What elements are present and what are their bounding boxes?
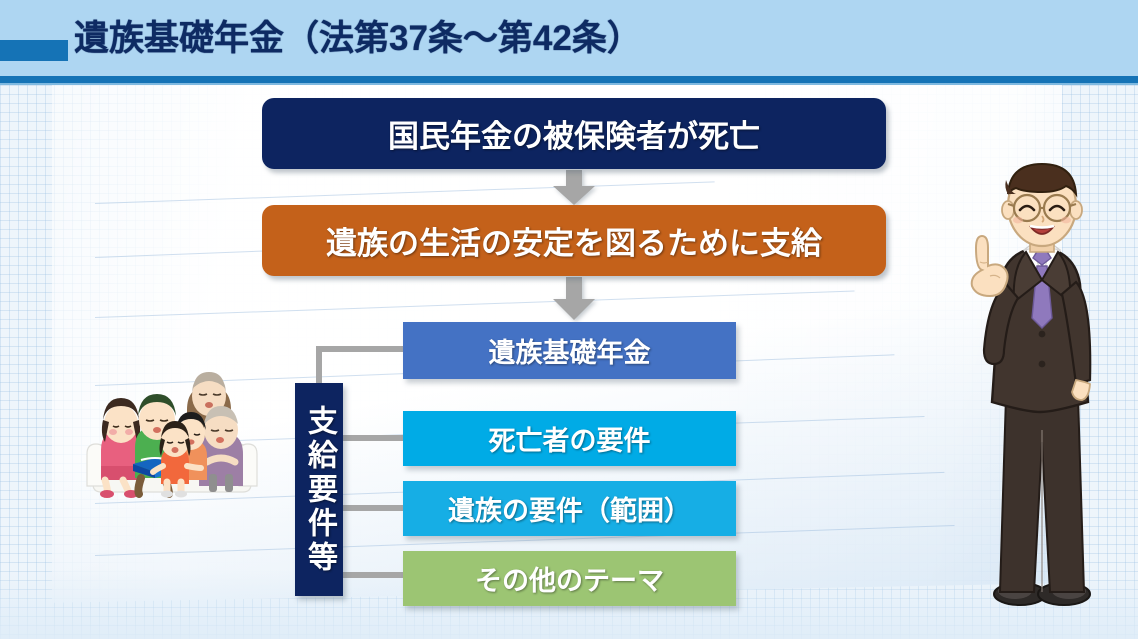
page-title: 遺族基礎年金（法第37条〜第42条） — [74, 16, 642, 62]
group-label-text: 支給要件等 — [304, 405, 334, 575]
topic-label: 遺族の要件（範囲） — [448, 489, 691, 528]
flow-step-death-label: 国民年金の被保険者が死亡 — [388, 111, 760, 156]
flow-step-death[interactable]: 国民年金の被保険者が死亡 — [262, 98, 886, 169]
topic-box-other-themes[interactable]: その他のテーマ — [403, 551, 736, 606]
topic-label: 遺族基礎年金 — [489, 331, 651, 370]
arrow-down-icon — [552, 277, 596, 321]
arrow-down-icon — [552, 170, 596, 206]
slide: 遺族基礎年金（法第37条〜第42条） 国民年金の被保険者が死亡 遺族の生活の安定… — [0, 0, 1138, 639]
flow-step-purpose[interactable]: 遺族の生活の安定を図るために支給 — [262, 205, 886, 276]
bracket-branch — [316, 346, 406, 352]
topic-box-deceased-requirements[interactable]: 死亡者の要件 — [403, 411, 736, 466]
flow-step-purpose-label: 遺族の生活の安定を図るために支給 — [326, 218, 822, 263]
topic-label: 死亡者の要件 — [489, 419, 651, 458]
slide-header: 遺族基礎年金（法第37条〜第42条） — [0, 0, 1138, 78]
header-accent-bar — [0, 40, 68, 61]
topic-box-izoku-kiso-nenkin[interactable]: 遺族基礎年金 — [403, 322, 736, 379]
family-illustration — [83, 362, 261, 498]
header-divider — [0, 76, 1138, 83]
group-label-supply-requirements[interactable]: 支給要件等 — [295, 383, 343, 596]
topic-box-survivor-requirements[interactable]: 遺族の要件（範囲） — [403, 481, 736, 536]
topic-label: その他のテーマ — [475, 559, 664, 598]
businessman-pointing-illustration — [960, 158, 1120, 610]
